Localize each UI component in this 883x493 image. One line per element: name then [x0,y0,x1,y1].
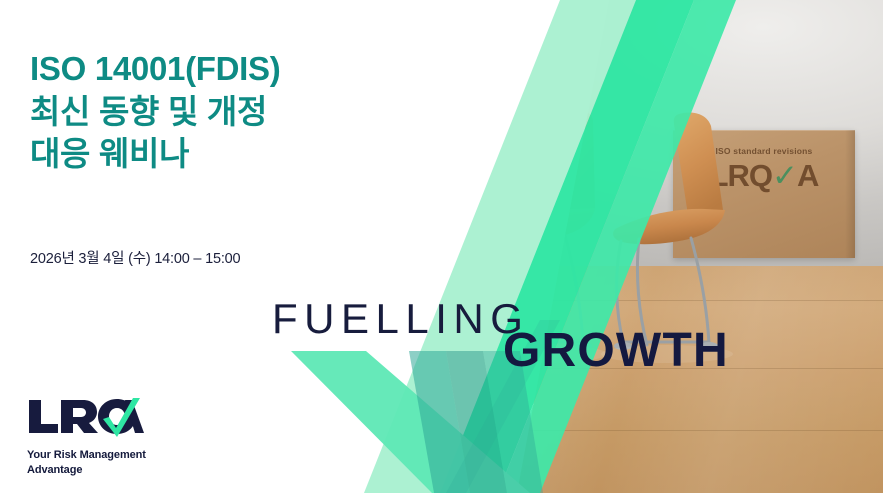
lrqa-tagline: Your Risk Management Advantage [27,448,197,478]
webinar-datetime: 2026년 3월 4일 (수) 14:00 – 15:00 [30,247,240,268]
page-title: ISO 14001(FDIS) 최신 동향 및 개정 대응 웨비나 [30,48,430,176]
lrqa-logo: Your Risk Management Advantage [27,397,197,478]
strapline-growth: GROWTH [503,327,729,375]
strapline-fuelling: FUELLING [272,298,529,340]
webinar-banner: ISO standard revisions LRQ✓A [0,0,883,493]
lrqa-wordmark [27,397,145,437]
